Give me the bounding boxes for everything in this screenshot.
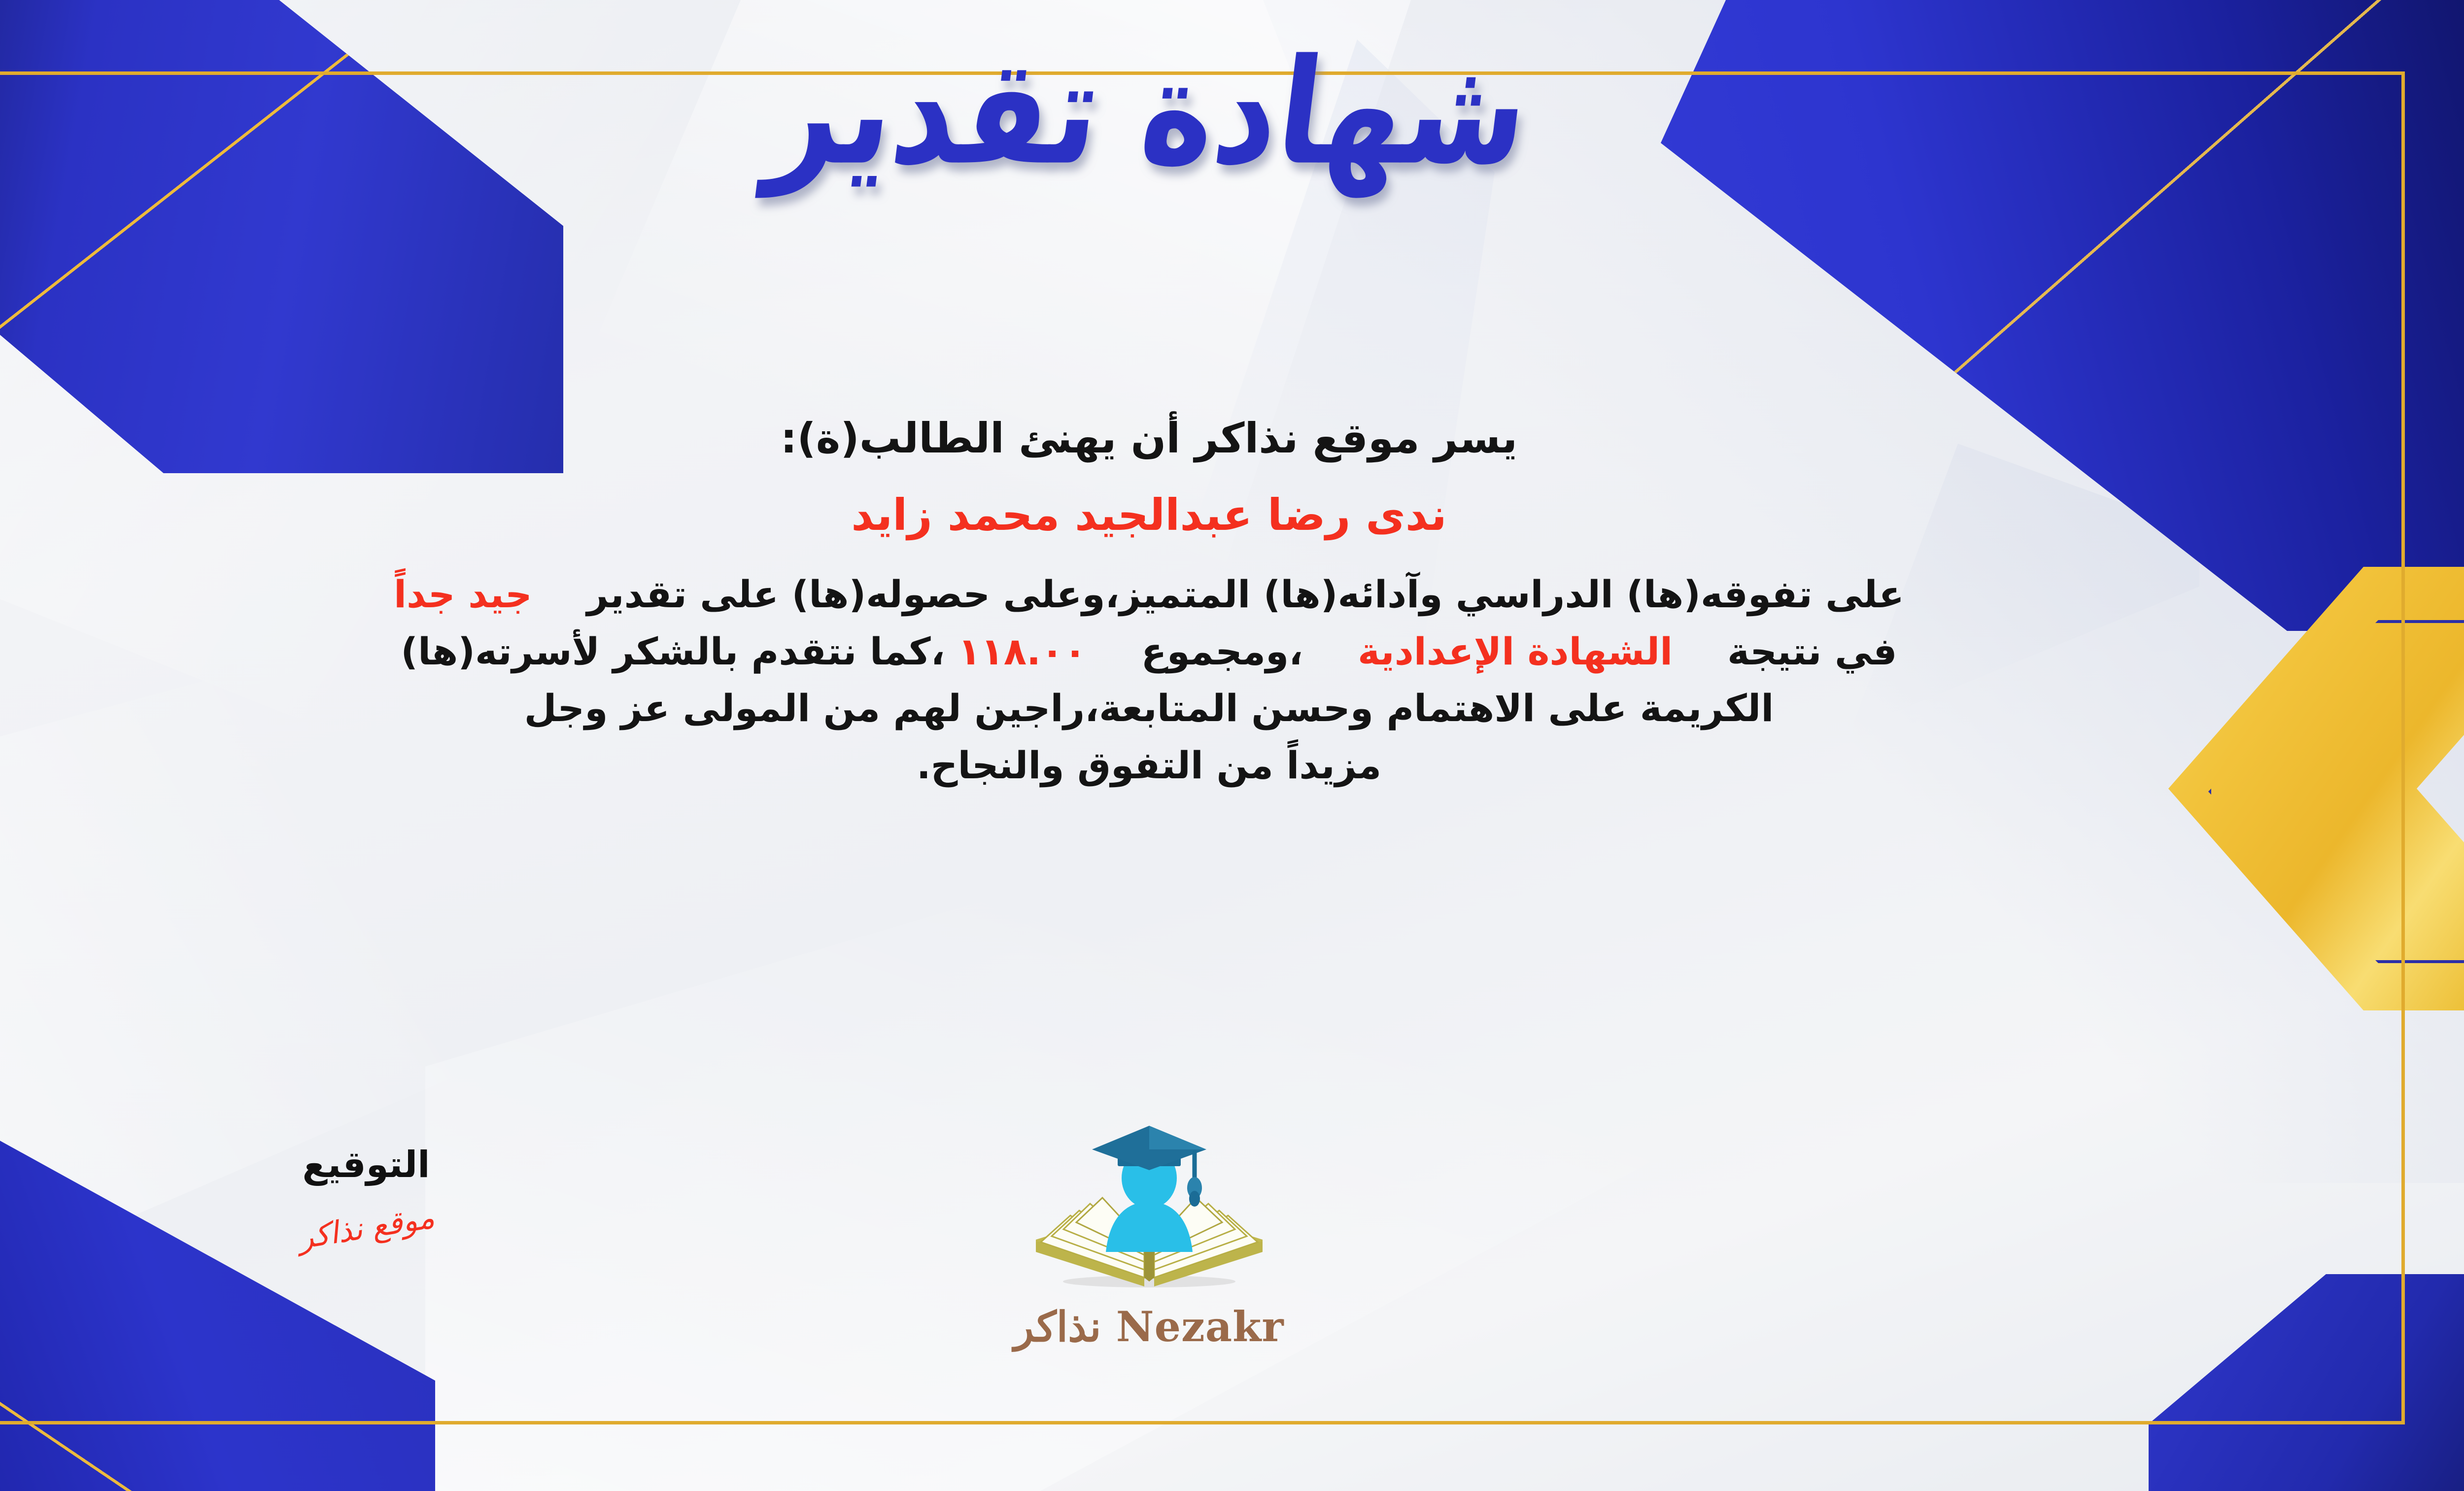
signature-block: التوقيع موقع نذاكر bbox=[208, 1144, 524, 1246]
achievement-text-line-5: الكريمة على الاهتمام وحسن المتابعة،راجين… bbox=[524, 686, 1774, 730]
brand-logo-block: Nezakr نذاكر bbox=[962, 1119, 1336, 1351]
signature-label: التوقيع bbox=[208, 1144, 524, 1186]
total-score: ١١٨.٠٠ bbox=[958, 629, 1087, 673]
achievement-text-part-4: ،كما نتقدم بالشكر لأسرته(ها) bbox=[401, 629, 945, 673]
page-title: شهادة تقدير bbox=[761, 32, 1537, 192]
certificate-canvas: شهادة تقدير يسر موقع نذاكر أن يهنئ الطال… bbox=[0, 0, 2464, 1491]
graduation-book-logo-icon bbox=[1021, 1119, 1277, 1306]
achievement-paragraph: على تفوقه(ها) الدراسي وآدائه(ها) المتميز… bbox=[0, 566, 2336, 794]
student-name: ندى رضا عبدالجيد محمد زايد bbox=[0, 485, 2336, 546]
certificate-body: يسر موقع نذاكر أن يهنئ الطالب(ة): ندى رض… bbox=[0, 409, 2336, 794]
exam-name: الشهادة الإعدادية bbox=[1358, 629, 1673, 673]
achievement-text-part-2: في نتيجة bbox=[1727, 629, 1897, 673]
intro-line: يسر موقع نذاكر أن يهنئ الطالب(ة): bbox=[0, 409, 2336, 468]
achievement-text-line-6: مزيداً من التفوق والنجاح. bbox=[917, 743, 1381, 787]
achievement-text-part-3: ،ومجموع bbox=[1141, 629, 1303, 673]
logo-wordmark: Nezakr نذاكر bbox=[962, 1302, 1336, 1351]
certificate-title-area: شهادة تقدير bbox=[0, 44, 2464, 180]
grade-value: جيد جداً bbox=[394, 572, 532, 616]
achievement-text-part-1: على تفوقه(ها) الدراسي وآدائه(ها) المتميز… bbox=[587, 572, 1904, 616]
